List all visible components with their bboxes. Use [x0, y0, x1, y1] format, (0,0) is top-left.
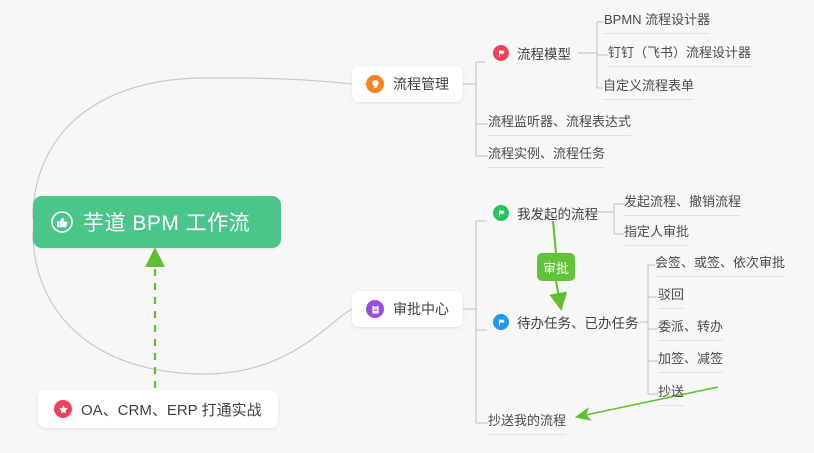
sub-branch-label-my-initiated: 我发起的流程 [517, 203, 598, 223]
approval-badge-label: 审批 [543, 258, 569, 277]
leaf-item[interactable]: BPMN 流程设计器 [604, 12, 710, 34]
flag-icon [493, 205, 509, 221]
sub-branch-label-todo-done: 待办任务、已办任务 [517, 312, 639, 332]
sub-branch-label-flow-model: 流程模型 [517, 43, 571, 63]
sub-branch-flow-model[interactable]: 流程模型 [493, 43, 571, 63]
sub-branch-todo-done[interactable]: 待办任务、已办任务 [493, 312, 639, 332]
flag-icon [493, 45, 509, 61]
leaf-item[interactable]: 指定人审批 [624, 224, 689, 246]
branch-label-approval-center: 审批中心 [393, 299, 449, 319]
root-node[interactable]: 芋道 BPM 工作流 [33, 196, 281, 248]
thumbs-up-icon [51, 211, 73, 233]
root-label: 芋道 BPM 工作流 [83, 207, 250, 237]
bottom-node-label: OA、CRM、ERP 打通实战 [81, 399, 262, 420]
leaf-item[interactable]: 抄送 [658, 384, 684, 406]
leaf-item[interactable]: 抄送我的流程 [488, 413, 566, 435]
lightbulb-icon [366, 75, 384, 93]
approval-badge: 审批 [537, 253, 575, 281]
branch-node-approval-center[interactable]: 审批中心 [352, 291, 463, 327]
mindmap-canvas: 芋道 BPM 工作流 流程管理 审批中心 [0, 0, 814, 453]
arrow-initiated-to-badge [553, 221, 556, 253]
leaf-item[interactable]: 驳回 [658, 287, 684, 309]
branch-node-flow-management[interactable]: 流程管理 [352, 66, 463, 102]
arrow-cc-to-cc-my-flow [581, 387, 718, 416]
flag-icon [493, 314, 509, 330]
leaf-item[interactable]: 加签、减签 [658, 351, 723, 373]
arrow-badge-to-todo [556, 281, 560, 303]
star-icon [54, 400, 72, 418]
leaf-item[interactable]: 自定义流程表单 [603, 78, 694, 100]
leaf-item[interactable]: 流程实例、流程任务 [488, 146, 605, 168]
leaf-item[interactable]: 委派、转办 [658, 319, 723, 341]
connector-root-to-approval-center [33, 232, 352, 374]
leaf-item[interactable]: 会签、或签、依次审批 [655, 255, 785, 277]
leaf-item[interactable]: 发起流程、撤销流程 [624, 194, 741, 216]
bottom-node-oa-crm-erp[interactable]: OA、CRM、ERP 打通实战 [38, 390, 278, 428]
leaf-item[interactable]: 流程监听器、流程表达式 [488, 114, 631, 136]
clipboard-icon [366, 300, 384, 318]
leaf-item[interactable]: 钉钉（飞书）流程设计器 [608, 45, 751, 67]
sub-branch-my-initiated[interactable]: 我发起的流程 [493, 203, 598, 223]
branch-label-flow-management: 流程管理 [393, 74, 449, 94]
